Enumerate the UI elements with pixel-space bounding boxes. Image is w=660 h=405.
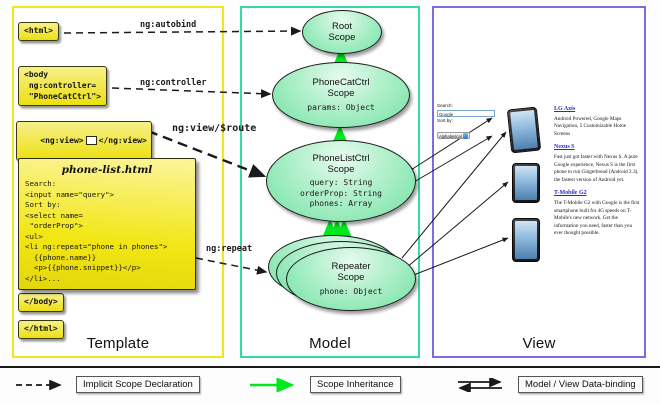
- scope-root-name: Root Scope: [329, 21, 356, 43]
- legend-label: Scope Inheritance: [310, 376, 401, 393]
- dashed-arrow-icon: [14, 378, 70, 392]
- double-arrow-icon: [456, 378, 512, 392]
- chevron-down-icon: [463, 133, 468, 139]
- sort-label: Sort by:: [437, 118, 495, 125]
- ngview-close-label: </ng:view>: [99, 136, 147, 145]
- view-search-form: Search: Google Sort by: Alphabetical: [437, 103, 495, 143]
- ngview-slot-icon: [86, 136, 97, 145]
- phone-snippet: The T-Mobile G2 with Google is the first…: [554, 200, 642, 238]
- edge-label-route: ng:view/$route: [172, 123, 256, 134]
- search-input[interactable]: Google: [437, 110, 495, 117]
- phone-thumbnail-t-mobile-g2: [512, 218, 540, 262]
- edge-label-repeat: ng:repeat: [206, 244, 252, 254]
- phone-name-link[interactable]: T-Mobile G2: [554, 190, 642, 198]
- sort-select-value: Alphabetical: [439, 134, 462, 139]
- html-end-tag-box: </html>: [18, 320, 64, 339]
- legend-item-implicit-scope-declaration: Implicit Scope Declaration: [14, 376, 200, 393]
- ngview-tag-box: <ng:view></ng:view>: [16, 121, 152, 161]
- phone-snippet: Android Powered, Google Maps Navigation,…: [554, 116, 642, 139]
- html-tag-box: <html>: [18, 22, 59, 41]
- body-end-tag-box: </body>: [18, 293, 64, 312]
- panel-model-title: Model: [242, 335, 418, 352]
- phone-snippet: Fast just got faster with Nexus S. A pur…: [554, 154, 642, 184]
- scope-phonecatctrl-props: params: Object: [307, 103, 374, 113]
- diagram-canvas: Template <html> <body ng:controller= "Ph…: [0, 0, 660, 405]
- list-item: LG Axis Android Powered, Google Maps Nav…: [554, 106, 642, 138]
- phone-thumbnail-nexus-s: [512, 163, 540, 203]
- scope-repeater: Repeater Scope phone: Object: [286, 247, 416, 311]
- code-callout-body: Search: <input name="query"> Sort by: <s…: [25, 179, 189, 284]
- view-phone-list: LG Axis Android Powered, Google Maps Nav…: [554, 106, 642, 244]
- phone-list-code-callout: phone-list.html Search: <input name="que…: [18, 158, 196, 290]
- phone-name-link[interactable]: LG Axis: [554, 106, 642, 114]
- scope-repeater-props: phone: Object: [320, 287, 383, 297]
- scope-phonecatctrl-name: PhoneCatCtrl Scope: [312, 77, 369, 99]
- search-label: Search:: [437, 103, 495, 110]
- legend-item-scope-inheritance: Scope Inheritance: [248, 376, 401, 393]
- scope-root: Root Scope: [302, 10, 382, 54]
- list-item: Nexus S Fast just got faster with Nexus …: [554, 144, 642, 184]
- legend-item-model-view-data-binding: Model / View Data-binding: [456, 376, 643, 393]
- legend: Implicit Scope Declaration Scope Inherit…: [0, 366, 660, 405]
- phone-thumbnail-lg-axis: [507, 107, 541, 154]
- scope-phonecatctrl: PhoneCatCtrl Scope params: Object: [272, 62, 410, 128]
- phone-name-link[interactable]: Nexus S: [554, 144, 642, 152]
- green-arrow-icon: [248, 378, 304, 392]
- scope-phonelistctrl: PhoneListCtrl Scope query: String orderP…: [266, 140, 416, 222]
- body-tag-box: <body ng:controller= "PhoneCatCtrl">: [18, 66, 107, 106]
- edge-label-controller: ng:controller: [140, 78, 207, 88]
- legend-label: Implicit Scope Declaration: [76, 376, 200, 393]
- list-item: T-Mobile G2 The T-Mobile G2 with Google …: [554, 190, 642, 237]
- sort-select[interactable]: Alphabetical: [437, 132, 470, 140]
- code-callout-title: phone-list.html: [25, 164, 189, 176]
- legend-label: Model / View Data-binding: [518, 376, 643, 393]
- edge-label-autobind: ng:autobind: [140, 20, 196, 30]
- scope-phonelistctrl-name: PhoneListCtrl Scope: [312, 153, 369, 175]
- ngview-open-label: <ng:view>: [40, 136, 83, 145]
- scope-phonelistctrl-props: query: String orderProp: String phones: …: [300, 178, 382, 209]
- panel-view-title: View: [434, 335, 644, 352]
- scope-repeater-name: Repeater Scope: [331, 261, 370, 283]
